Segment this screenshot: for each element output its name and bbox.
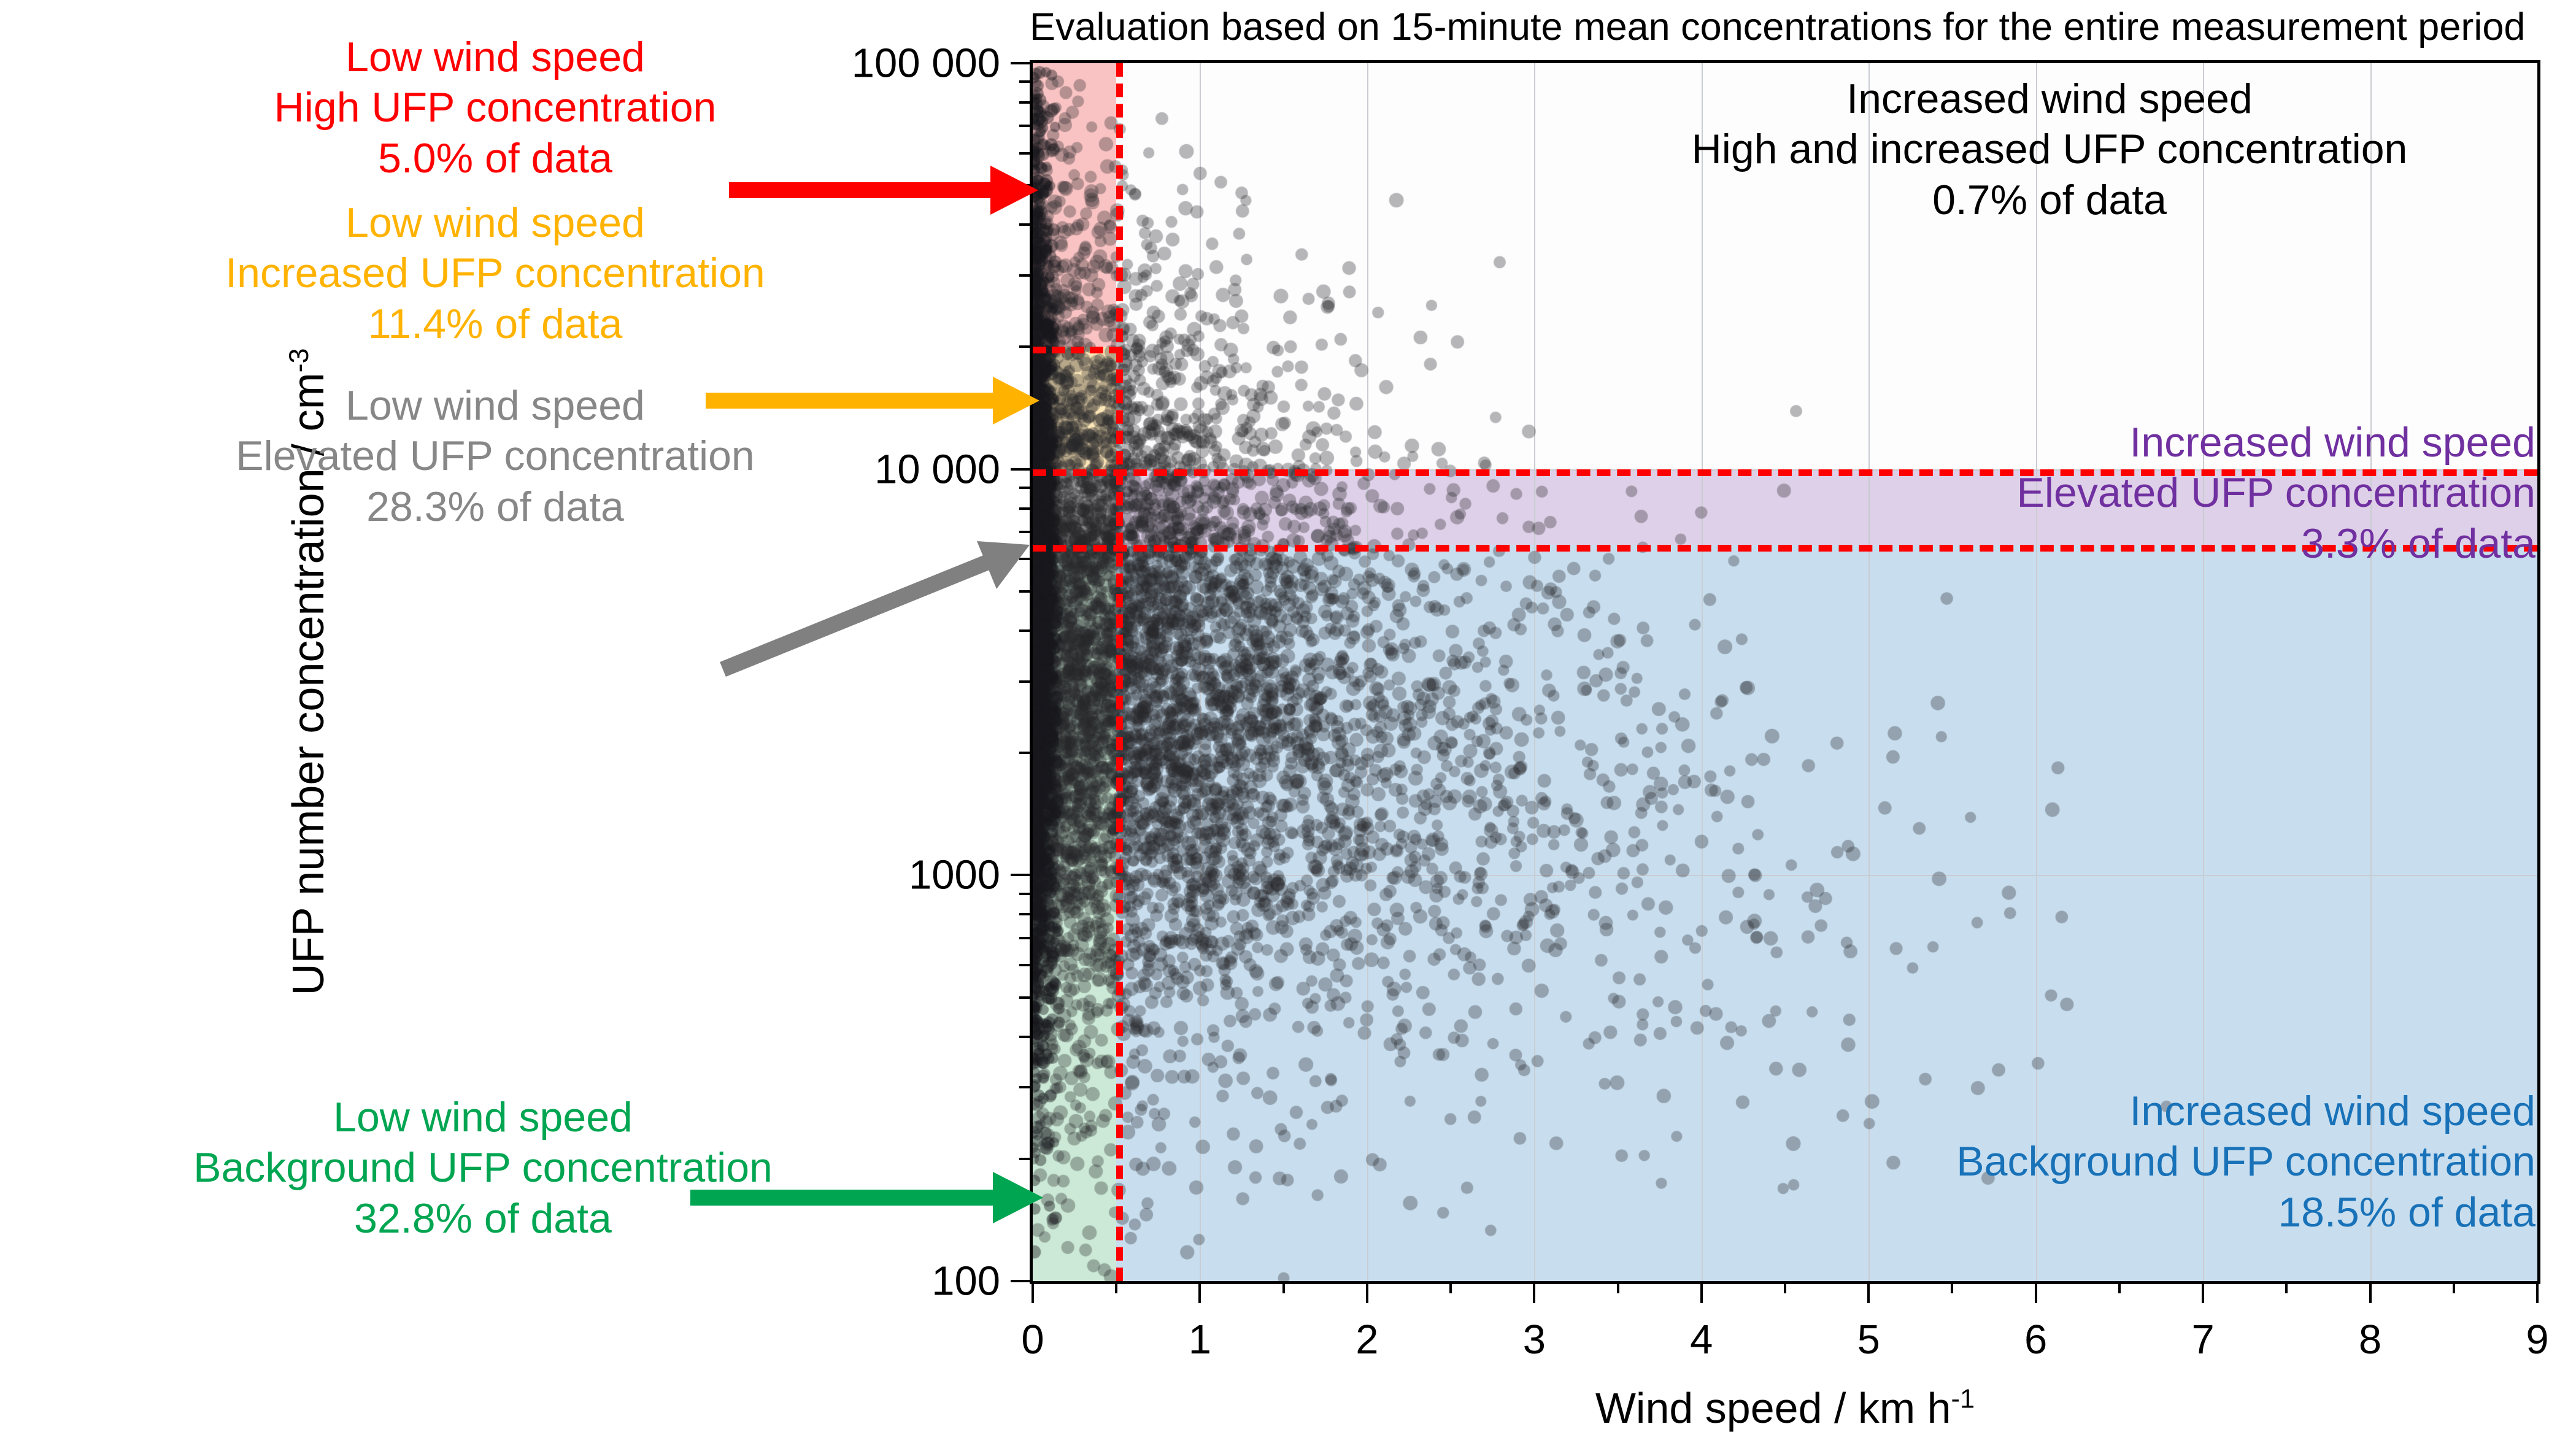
arrow-green — [690, 1172, 1043, 1223]
annotation-arrows — [0, 0, 2576, 1451]
chart-root: Evaluation based on 15-minute mean conce… — [0, 0, 2576, 1451]
arrow-red — [729, 166, 1038, 215]
arrow-orange — [706, 377, 1039, 425]
arrow-gray — [723, 541, 1030, 669]
